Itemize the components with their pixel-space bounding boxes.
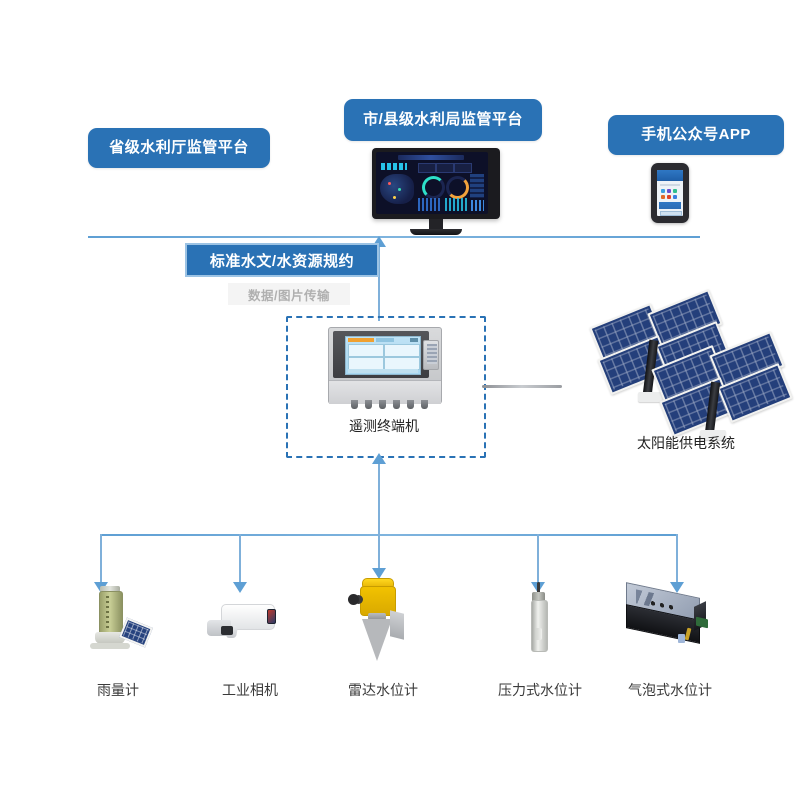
- sensor-drop-2: [239, 534, 241, 584]
- solar-power-graphic: [586, 296, 786, 446]
- sensor-drop-4: [537, 534, 539, 584]
- radar-level-graphic: [342, 578, 422, 658]
- sensor-label-pressure-level: 压力式水位计: [483, 680, 597, 700]
- top-network-bus: [88, 236, 700, 238]
- platform-city-button[interactable]: 市/县级水利局监管平台: [344, 99, 542, 141]
- platform-city-label: 市/县级水利局监管平台: [363, 112, 523, 129]
- sensor-label-bubble-level: 气泡式水位计: [613, 680, 727, 700]
- sensor-bus-uplink-line: [378, 460, 380, 534]
- protocol-label: 标准水文/水资源规约: [185, 243, 379, 277]
- sensor-label-industrial-camera: 工业相机: [195, 680, 305, 700]
- platform-app-label: 手机公众号APP: [641, 127, 751, 144]
- protocol-sublabel-text: 数据/图片传输: [248, 285, 330, 304]
- phone-graphic: [651, 163, 689, 223]
- bubble-level-graphic: [620, 588, 720, 650]
- sensor-bus: [100, 534, 676, 536]
- sensor-drop-5: [676, 534, 678, 584]
- sensor-drop-1: [100, 534, 102, 584]
- sensor-label-radar-level: 雷达水位计: [328, 680, 438, 700]
- protocol-label-text: 标准水文/水资源规约: [210, 250, 354, 271]
- rtu-label: 遥测终端机: [286, 416, 482, 436]
- industrial-camera-graphic: [205, 598, 295, 650]
- rain-gauge-graphic: [78, 586, 158, 652]
- sensor-label-rain-gauge: 雨量计: [58, 680, 178, 700]
- diagram-canvas: 省级水利厅监管平台 市/县级水利局监管平台 手机公众号APP: [0, 0, 800, 800]
- solar-power-label: 太阳能供电系统: [586, 433, 786, 453]
- rtu-device-graphic: [328, 327, 440, 407]
- pressure-level-graphic: [520, 582, 560, 654]
- sensor-drop-3: [378, 534, 380, 570]
- solar-power-label-text: 太阳能供电系统: [637, 435, 735, 451]
- platform-province-label: 省级水利厅监管平台: [109, 140, 249, 157]
- protocol-sublabel: 数据/图片传输: [228, 283, 350, 305]
- monitor-graphic: [372, 148, 500, 235]
- rtu-label-text: 遥测终端机: [349, 418, 419, 434]
- antenna-icon: [482, 385, 562, 388]
- platform-province-button[interactable]: 省级水利厅监管平台: [88, 128, 270, 168]
- platform-app-button[interactable]: 手机公众号APP: [608, 115, 784, 155]
- sensor-arrow-2: [233, 582, 247, 593]
- sensor-bus-uplink-arrow: [372, 453, 386, 464]
